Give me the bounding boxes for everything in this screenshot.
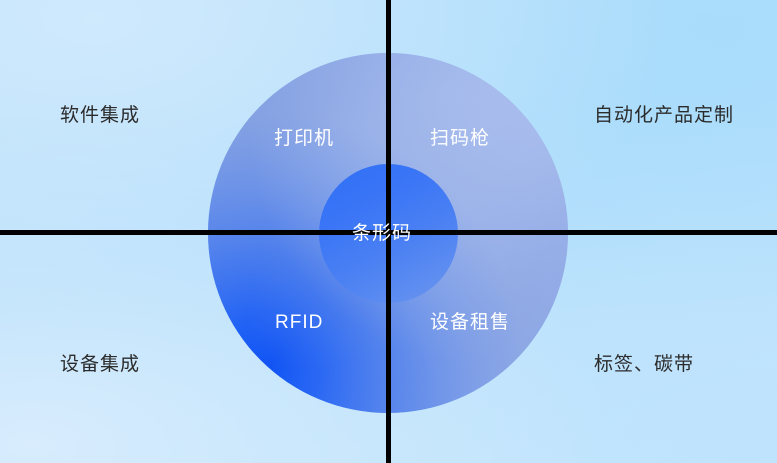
inner-label-equipment-rental: 设备租售 [430,313,510,332]
outer-label-automation-customization: 自动化产品定制 [594,106,734,125]
diagram-canvas: 打印机 扫码枪 RFID 设备租售 条形码 软件集成 自动化产品定制 设备集成 … [0,0,777,463]
inner-label-rfid: RFID [275,313,323,332]
outer-label-equipment-integration: 设备集成 [60,355,140,374]
outer-label-software-integration: 软件集成 [60,106,140,125]
inner-label-printer: 打印机 [274,129,334,148]
center-label-barcode: 条形码 [352,224,412,243]
inner-label-scanner: 扫码枪 [430,129,490,148]
outer-label-labels-ribbons: 标签、碳带 [594,355,694,374]
